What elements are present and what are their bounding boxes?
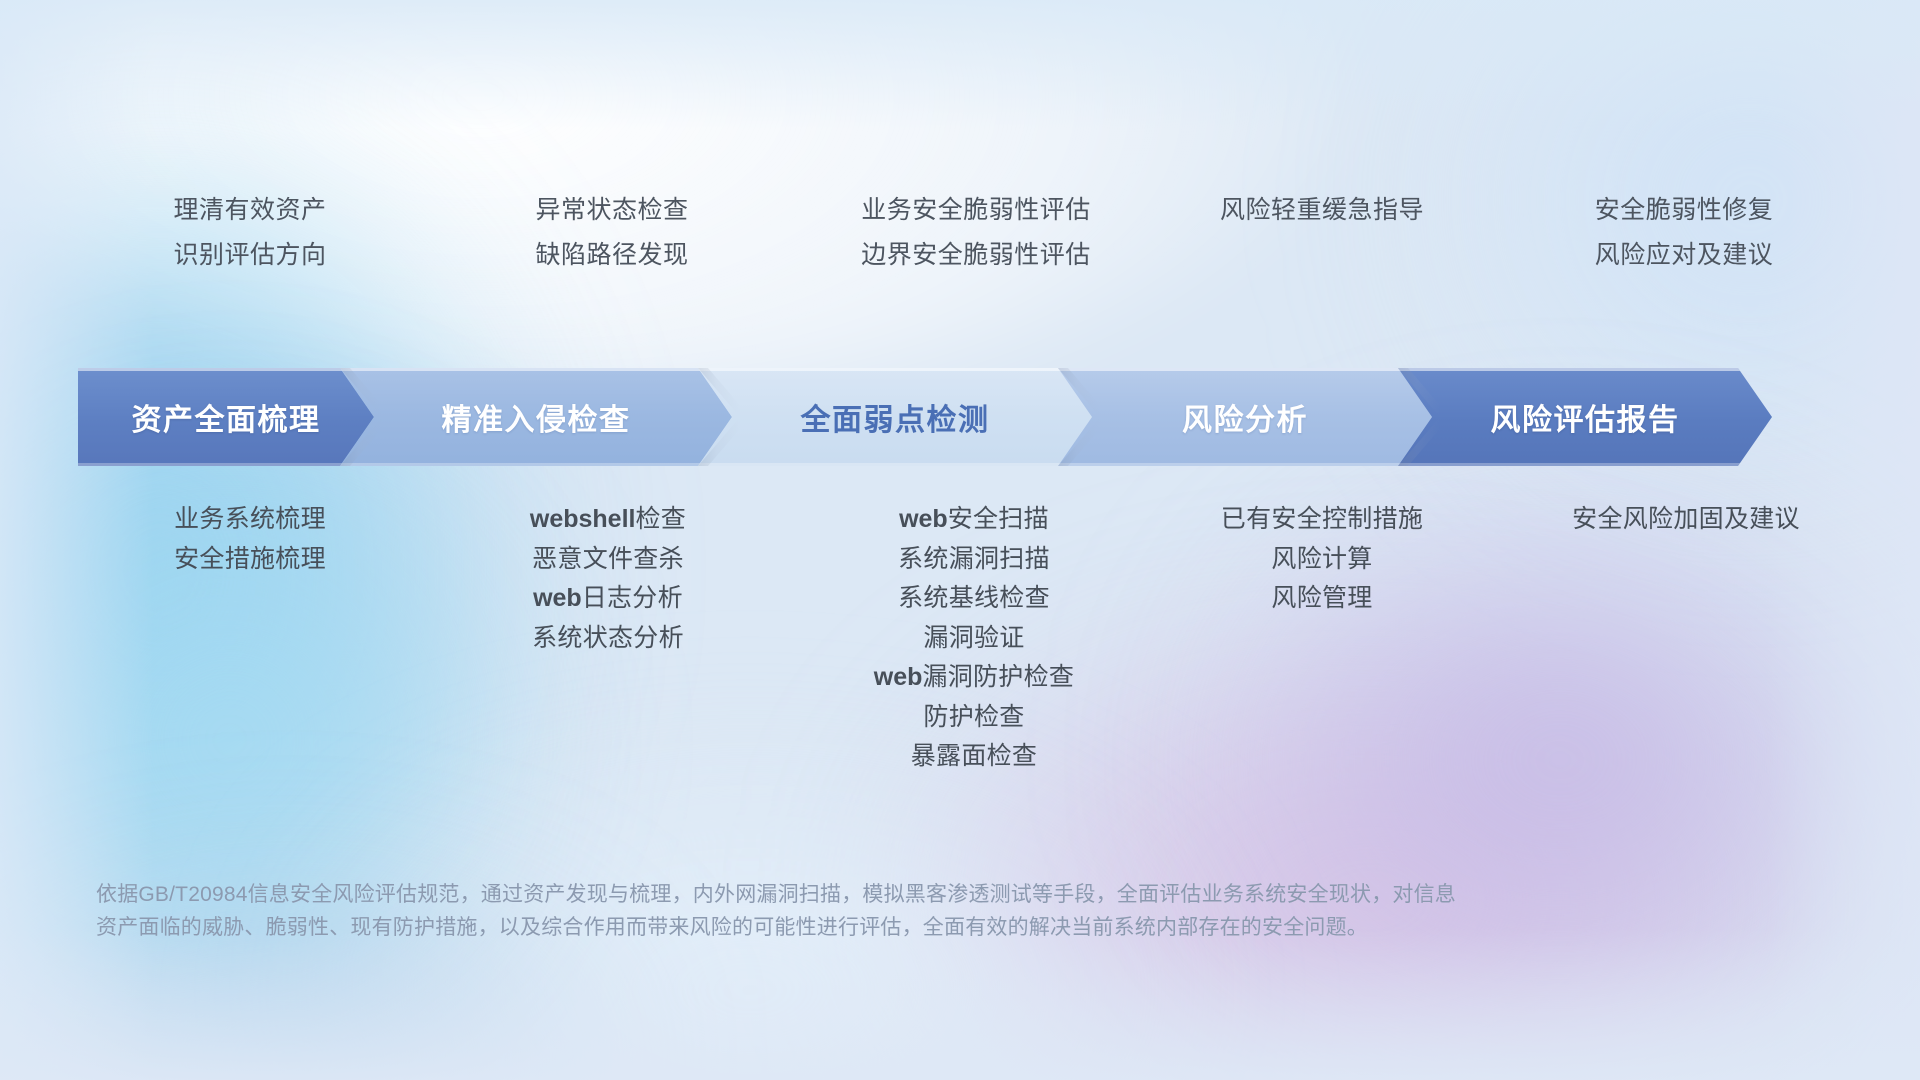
bottom-label-strong: web [874,663,923,691]
top-label-group-1: 理清有效资产 识别评估方向 [70,188,430,278]
bottom-label: 系统漏洞扫描 [794,540,1154,580]
stage-detail-column-weakness-detection: web安全扫描 系统漏洞扫描 系统基线检查 漏洞验证 web漏洞防护检查 防护检… [794,500,1154,777]
top-label-group-4: 风险轻重缓急指导 [1152,188,1492,233]
chevron-title: 全面弱点检测 [801,395,990,439]
chevron-stage-risk-analysis[interactable]: 风险分析 [1058,368,1432,466]
bottom-label-group-3: web安全扫描 系统漏洞扫描 系统基线检查 漏洞验证 web漏洞防护检查 防护检… [794,500,1154,777]
bottom-label-strong: web [533,584,582,612]
bottom-label: web日志分析 [430,579,786,619]
chevron-title: 精准入侵检查 [442,395,631,439]
top-label-group-3: 业务安全脆弱性评估 边界安全脆弱性评估 [796,188,1156,278]
diagram-content: 理清有效资产 识别评估方向 异常状态检查 缺陷路径发现 业务安全脆弱性评估 边界… [0,0,1920,1080]
bottom-label: 防护检查 [794,698,1154,738]
bottom-label-rest: 安全扫描 [948,505,1049,533]
bottom-label-group-1: 业务系统梳理 安全措施梳理 [70,500,430,579]
top-label: 缺陷路径发现 [434,233,790,278]
top-label-group-2: 异常状态检查 缺陷路径发现 [434,188,790,278]
bottom-label: 已有安全控制措施 [1152,500,1492,540]
stage-column-weakness-detection: 业务安全脆弱性评估 边界安全脆弱性评估 [794,188,1154,278]
stage-column-intrusion-check: 异常状态检查 缺陷路径发现 [438,188,794,278]
chevron-title: 风险分析 [1182,395,1308,439]
bottom-label: 恶意文件查杀 [430,540,786,580]
bottom-label: 风险计算 [1152,540,1492,580]
stage-column-risk-analysis: 风险轻重缓急指导 [1154,188,1494,233]
chevron-title: 资产全面梳理 [132,395,321,439]
bottom-label: web漏洞防护检查 [794,658,1154,698]
stage-detail-column-intrusion-check: webshell检查 恶意文件查杀 web日志分析 系统状态分析 [438,500,794,658]
chevron-stage-risk-report[interactable]: 风险评估报告 [1398,368,1772,466]
chevron-stage-intrusion-check[interactable]: 精准入侵检查 [340,368,732,466]
top-label: 业务安全脆弱性评估 [796,188,1156,233]
chevron-stage-asset-inventory[interactable]: 资产全面梳理 [78,368,374,466]
top-label: 理清有效资产 [70,188,430,233]
bottom-label: 安全风险加固及建议 [1512,500,1860,540]
bottom-label: 暴露面检查 [794,737,1154,777]
bottom-label: web安全扫描 [794,500,1154,540]
bottom-label: webshell检查 [430,500,786,540]
bottom-label-rest: 检查 [635,505,686,533]
top-label-group-5: 安全脆弱性修复 风险应对及建议 [1510,188,1858,278]
stage-detail-column-asset-inventory: 业务系统梳理 安全措施梳理 [78,500,438,579]
top-label: 边界安全脆弱性评估 [796,233,1156,278]
bottom-label: 系统状态分析 [430,619,786,659]
stage-column-risk-report: 安全脆弱性修复 风险应对及建议 [1494,188,1842,278]
stage-detail-column-risk-analysis: 已有安全控制措施 风险计算 风险管理 [1154,500,1494,619]
bottom-label-group-2: webshell检查 恶意文件查杀 web日志分析 系统状态分析 [430,500,786,658]
bottom-label-strong: web [899,505,948,533]
bottom-label-rest: 漏洞防护检查 [922,663,1074,691]
stage-detail-column-risk-report: 安全风险加固及建议 [1494,500,1842,540]
chevron-title: 风险评估报告 [1491,395,1680,439]
footer-line: 依据GB/T20984信息安全风险评估规范，通过资产发现与梳理，内外网漏洞扫描，… [96,878,1736,911]
bottom-label-rest: 日志分析 [582,584,683,612]
bottom-label: 风险管理 [1152,579,1492,619]
footer-description: 依据GB/T20984信息安全风险评估规范，通过资产发现与梳理，内外网漏洞扫描，… [96,878,1736,944]
top-label: 风险应对及建议 [1510,233,1858,278]
bottom-label-group-5: 安全风险加固及建议 [1512,500,1860,540]
top-label: 异常状态检查 [434,188,790,233]
top-label: 风险轻重缓急指导 [1152,188,1492,233]
bottom-label: 安全措施梳理 [70,540,430,580]
top-label: 识别评估方向 [70,233,430,278]
bottom-labels-row: 业务系统梳理 安全措施梳理 webshell检查 恶意文件查杀 web日志分析 … [78,500,1842,777]
bottom-label: 漏洞验证 [794,619,1154,659]
stage-column-asset-inventory: 理清有效资产 识别评估方向 [78,188,438,278]
bottom-label-strong: webshell [530,505,636,533]
top-label: 安全脆弱性修复 [1510,188,1858,233]
process-chevron-band: 资产全面梳理 精准入侵检查 全面弱点检测 风险分析 风险评估报告 [78,368,1840,466]
top-labels-row: 理清有效资产 识别评估方向 异常状态检查 缺陷路径发现 业务安全脆弱性评估 边界… [78,188,1842,278]
slide-canvas: 理清有效资产 识别评估方向 异常状态检查 缺陷路径发现 业务安全脆弱性评估 边界… [0,0,1920,1080]
bottom-label: 系统基线检查 [794,579,1154,619]
bottom-label: 业务系统梳理 [70,500,430,540]
footer-line: 资产面临的威胁、脆弱性、现有防护措施，以及综合作用而带来风险的可能性进行评估，全… [96,911,1736,944]
bottom-label-group-4: 已有安全控制措施 风险计算 风险管理 [1152,500,1492,619]
chevron-stage-weakness-detection[interactable]: 全面弱点检测 [698,368,1092,466]
